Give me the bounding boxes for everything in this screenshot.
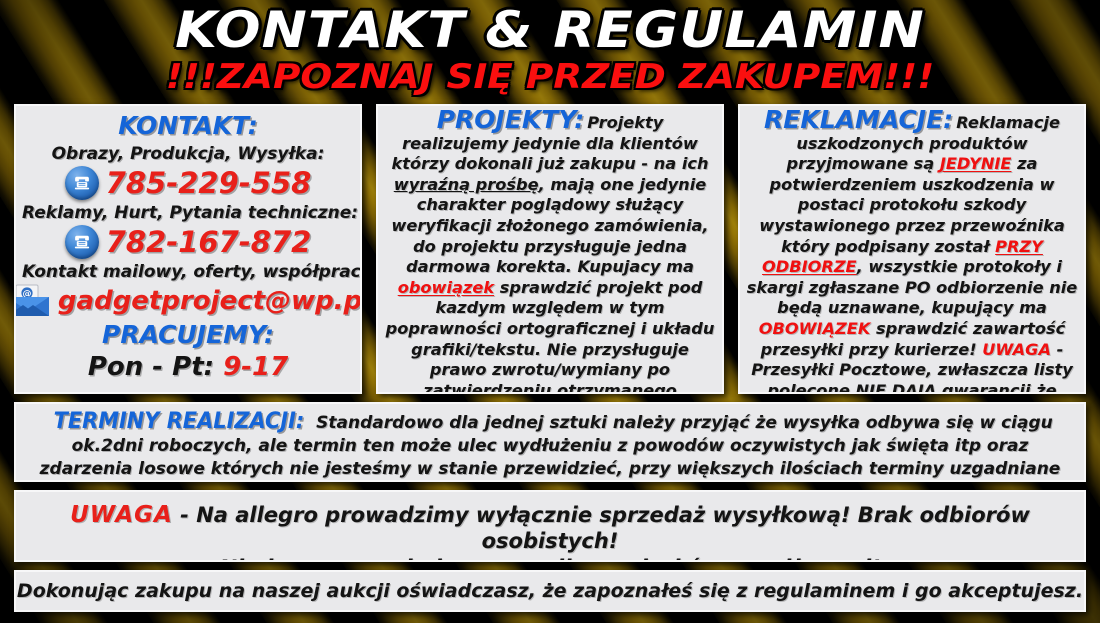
contact-label-production: Obrazy, Produkcja, Wysyłka: bbox=[22, 143, 354, 165]
banner-header: KONTAKT & REGULAMIN !!!ZAPOZNAJ SIĘ PRZE… bbox=[0, 0, 1100, 100]
notice-panel: UWAGA - Na allegro prowadzimy wyłącznie … bbox=[14, 490, 1086, 562]
footer-text: Dokonując zakupu na naszej aukcji oświad… bbox=[17, 580, 1083, 602]
page-subtitle: !!!ZAPOZNAJ SIĘ PRZED ZAKUPEM!!! bbox=[0, 58, 1100, 96]
notice-text-1: Na allegro prowadzimy wyłącznie sprzedaż… bbox=[196, 503, 1030, 553]
phone-number-1: 785-229-558 bbox=[106, 166, 312, 200]
working-hours-heading: PRACUJEMY: bbox=[22, 320, 354, 350]
projects-panel: PROJEKTY:Projekty realizujemy jedynie dl… bbox=[376, 104, 724, 394]
complaints-heading: REKLAMACJE: bbox=[764, 105, 953, 134]
notice-heading: UWAGA bbox=[70, 502, 173, 528]
delivery-times-heading: TERMINY REALIZACJI: bbox=[54, 409, 305, 434]
projects-text: PROJEKTY:Projekty realizujemy jedynie dl… bbox=[384, 110, 716, 394]
contact-and-terms-banner: KONTAKT & REGULAMIN !!!ZAPOZNAJ SIĘ PRZE… bbox=[0, 0, 1100, 623]
page-title: KONTAKT & REGULAMIN bbox=[0, 0, 1100, 58]
contact-label-ads: Reklamy, Hurt, Pytania techniczne: bbox=[22, 202, 354, 224]
phone-number-2: 782-167-872 bbox=[106, 225, 312, 259]
envelope-at-icon: @ bbox=[14, 284, 51, 318]
text-fragment-7: UWAGA bbox=[982, 340, 1051, 359]
notice-text-2: Nie łączymy na jedną przesyłkę wydruków … bbox=[26, 554, 1074, 562]
text-fragment-5: OBOWIĄZEK bbox=[759, 319, 871, 338]
text-fragment-1: JEDYNIE bbox=[940, 154, 1012, 173]
notice-line-1: UWAGA - Na allegro prowadzimy wyłącznie … bbox=[26, 502, 1074, 554]
phone-row-1[interactable]: 785-229-558 bbox=[22, 166, 354, 200]
contact-label-email: Kontakt mailowy, oferty, współpraca: bbox=[22, 261, 354, 283]
complaints-body: Reklamacje uszkodzonych produktów przyjm… bbox=[747, 113, 1078, 394]
complaints-text: REKLAMACJE:Reklamacje uszkodzonych produ… bbox=[746, 110, 1078, 394]
complaints-panel: REKLAMACJE:Reklamacje uszkodzonych produ… bbox=[738, 104, 1086, 394]
projects-body: Projekty realizujemy jedynie dla klientó… bbox=[386, 113, 715, 394]
telephone-icon bbox=[65, 225, 99, 259]
footer-panel: Dokonując zakupu na naszej aukcji oświad… bbox=[14, 570, 1086, 612]
text-fragment-1: wyraźną prośbę bbox=[394, 175, 539, 194]
email-row[interactable]: @ gadgetproject@wp.pl bbox=[22, 284, 354, 318]
projects-heading: PROJEKTY: bbox=[437, 105, 585, 134]
telephone-icon bbox=[65, 166, 99, 200]
delivery-times-panel: TERMINY REALIZACJI:Standardowo dla jedne… bbox=[14, 402, 1086, 482]
phone-row-2[interactable]: 782-167-872 bbox=[22, 225, 354, 259]
contact-heading: KONTAKT: bbox=[22, 111, 354, 141]
email-address: gadgetproject@wp.pl bbox=[58, 286, 362, 317]
notice-dash: - bbox=[173, 503, 196, 527]
working-hours-days: Pon - Pt: bbox=[88, 352, 214, 382]
text-fragment-3: obowiązek bbox=[398, 278, 494, 297]
working-hours-time: 9-17 bbox=[223, 352, 288, 382]
working-hours: Pon - Pt: 9-17 bbox=[22, 352, 354, 383]
contact-panel: KONTAKT: Obrazy, Produkcja, Wysyłka: 785… bbox=[14, 104, 362, 394]
